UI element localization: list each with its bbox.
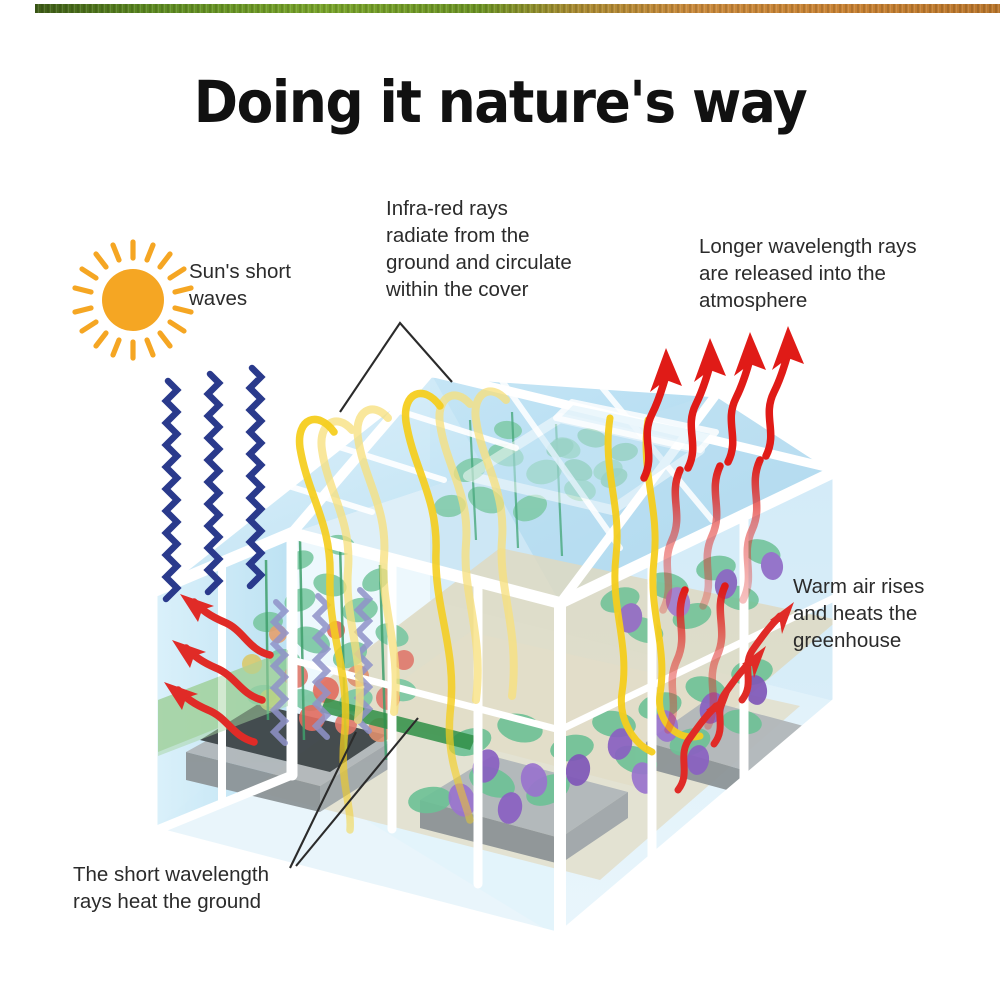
infographic-root: Doing it nature's way: [0, 0, 1000, 1000]
greenhouse-illustration: [0, 0, 1000, 1000]
label-sun-short-waves: Sun's short waves: [189, 258, 291, 312]
label-short-wavelength-ground: The short wavelength rays heat the groun…: [73, 861, 269, 915]
label-warm-air-rises: Warm air rises and heats the greenhouse: [793, 573, 924, 654]
label-infra-red-rays: Infra-red rays radiate from the ground a…: [386, 195, 572, 303]
sun-icon: [75, 242, 191, 358]
label-longer-wavelength: Longer wavelength rays are released into…: [699, 233, 917, 314]
